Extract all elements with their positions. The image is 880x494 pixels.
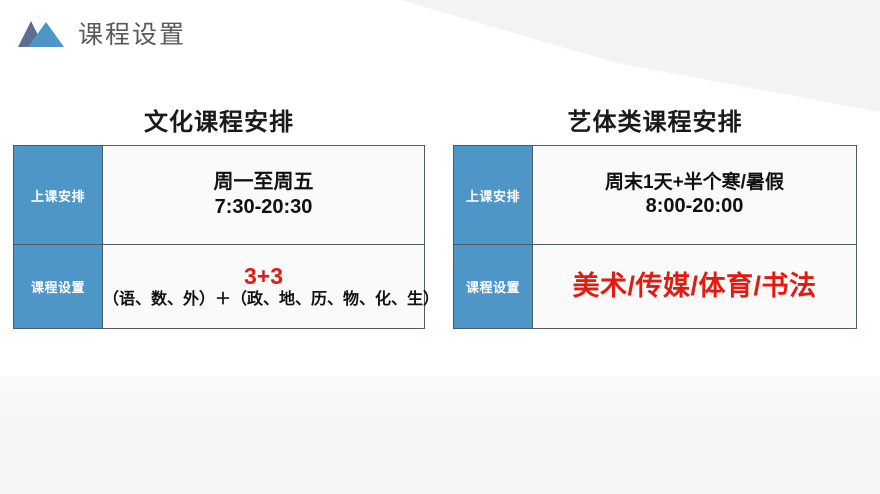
culture-courses-detail: （语、数、外）＋（政、地、历、物、化、生） xyxy=(103,290,424,309)
slide-canvas: 课程设置 文化课程安排 上课安排 周一至周五 7:30-20:30 课程设置 3… xyxy=(0,0,880,494)
table-row: 课程设置 美术/传媒/体育/书法 xyxy=(454,245,857,329)
table-row: 上课安排 周一至周五 7:30-20:30 xyxy=(14,146,425,245)
art-sports-courses-cell: 美术/传媒/体育/书法 xyxy=(533,245,857,329)
art-sports-courses-highlight: 美术/传媒/体育/书法 xyxy=(533,272,856,302)
art-sports-schedule-line-1: 周末1天+半个寒/暑假 xyxy=(533,171,856,195)
culture-course-block: 文化课程安排 上课安排 周一至周五 7:30-20:30 课程设置 3+3 （语… xyxy=(13,105,425,329)
row-header-schedule: 上课安排 xyxy=(454,146,533,245)
table-row: 上课安排 周末1天+半个寒/暑假 8:00-20:00 xyxy=(454,146,857,245)
background-diagonal-shape xyxy=(370,0,880,114)
culture-course-title: 文化课程安排 xyxy=(13,105,425,145)
art-sports-course-table: 上课安排 周末1天+半个寒/暑假 8:00-20:00 课程设置 美术/传媒/体… xyxy=(453,145,857,329)
row-header-courses: 课程设置 xyxy=(14,245,103,329)
art-sports-course-block: 艺体类课程安排 上课安排 周末1天+半个寒/暑假 8:00-20:00 课程设置… xyxy=(453,105,857,329)
art-sports-schedule-line-2: 8:00-20:00 xyxy=(533,194,856,219)
culture-course-table: 上课安排 周一至周五 7:30-20:30 课程设置 3+3 （语、数、外）＋（… xyxy=(13,145,425,329)
mountain-logo-icon xyxy=(18,17,66,53)
culture-schedule-line-2: 7:30-20:30 xyxy=(103,195,424,220)
art-sports-schedule-cell: 周末1天+半个寒/暑假 8:00-20:00 xyxy=(533,146,857,245)
row-header-courses: 课程设置 xyxy=(454,245,533,329)
culture-schedule-cell: 周一至周五 7:30-20:30 xyxy=(103,146,425,245)
culture-schedule-line-1: 周一至周五 xyxy=(103,170,424,195)
background-bottom-band xyxy=(0,376,880,494)
culture-courses-highlight: 3+3 xyxy=(103,264,424,289)
table-row: 课程设置 3+3 （语、数、外）＋（政、地、历、物、化、生） xyxy=(14,245,425,329)
row-header-schedule: 上课安排 xyxy=(14,146,103,245)
culture-courses-cell: 3+3 （语、数、外）＋（政、地、历、物、化、生） xyxy=(103,245,425,329)
art-sports-course-title: 艺体类课程安排 xyxy=(453,105,857,145)
slide-header: 课程设置 xyxy=(18,12,186,58)
page-title: 课程设置 xyxy=(78,23,186,48)
